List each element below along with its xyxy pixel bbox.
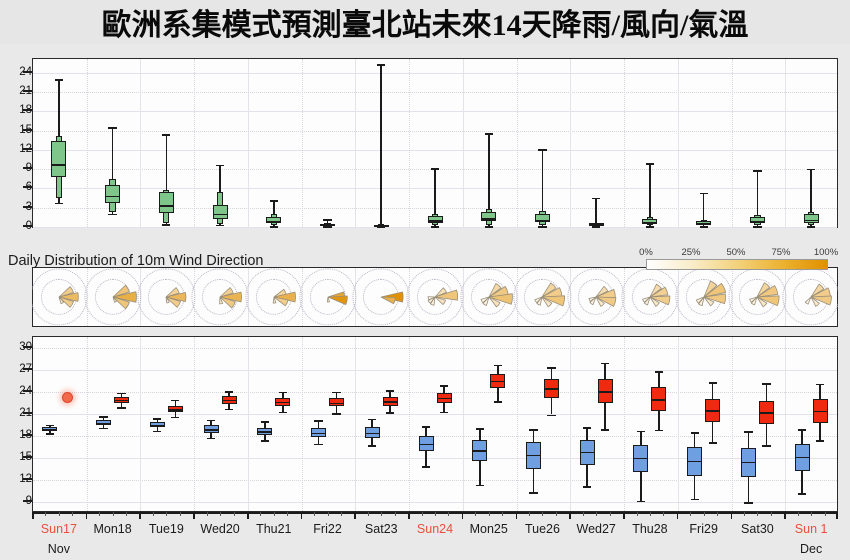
wind-legend-tick-label: 75% — [771, 247, 790, 258]
boxplot-median — [437, 398, 452, 399]
x-axis-minor-tick — [368, 512, 369, 516]
wind-rose-petals — [727, 267, 788, 327]
whisker-cap — [637, 501, 645, 503]
whisker-cap — [323, 226, 331, 228]
x-axis-minor-tick — [59, 512, 60, 516]
whisker-cap — [225, 391, 233, 393]
boxplot-median — [275, 402, 290, 403]
x-axis-minor-tick — [381, 512, 382, 516]
wind-rose — [408, 267, 462, 327]
whisker-cap — [422, 426, 430, 428]
boxplot-median — [526, 455, 541, 456]
whisker-cap — [655, 371, 663, 373]
whisker-cap — [691, 499, 699, 501]
boxplot-median — [419, 444, 434, 445]
x-axis-major-tick — [784, 512, 786, 519]
x-axis-day-label: Fri29 — [689, 522, 717, 536]
x-axis-major-tick — [32, 512, 34, 519]
wind-legend-gradient-bar — [646, 259, 828, 270]
x-axis-day-label: Thu28 — [632, 522, 667, 536]
x-axis-minor-tick — [704, 512, 705, 516]
x-axis-minor-tick — [260, 512, 261, 516]
boxplot-median — [105, 196, 120, 197]
whisker-cap — [601, 429, 609, 431]
wind-rose-petals — [566, 267, 627, 327]
x-axis-major-tick — [301, 512, 303, 519]
whisker-cap — [807, 169, 815, 171]
x-axis-minor-tick — [556, 512, 557, 516]
whisker-cap — [440, 385, 448, 387]
whisker-cap — [153, 418, 161, 420]
boxplot-iqr — [213, 205, 228, 219]
x-axis-minor-tick — [771, 512, 772, 516]
whisker-cap — [529, 429, 537, 431]
temperature-y-tick — [23, 500, 32, 502]
whisker-cap — [171, 417, 179, 419]
x-axis-minor-tick — [448, 512, 449, 516]
x-axis-major-tick — [623, 512, 625, 519]
x-axis-major-tick — [247, 512, 249, 519]
whisker-cap — [422, 466, 430, 468]
x-axis-minor-tick — [502, 512, 503, 516]
temperature-y-tick — [23, 412, 32, 414]
whisker-cap — [538, 226, 546, 228]
x-axis-minor-tick — [435, 512, 436, 516]
x-axis-minor-tick — [475, 512, 476, 516]
whisker-cap — [314, 420, 322, 422]
boxplot-median — [266, 221, 281, 222]
boxplot-median — [687, 461, 702, 462]
x-axis-day-label: Wed27 — [576, 522, 615, 536]
x-axis-minor-tick — [610, 512, 611, 516]
whisker-cap — [270, 226, 278, 228]
wind-legend-tick-label: 25% — [681, 247, 700, 258]
whisker-cap — [270, 200, 278, 202]
wind-rose-petals — [781, 267, 838, 327]
x-axis-minor-tick — [126, 512, 127, 516]
wind-rose-petals — [32, 267, 89, 327]
temperature-y-tick — [23, 346, 32, 348]
x-axis-day-label: Sun 1 — [795, 522, 828, 536]
temperature-y-tick — [23, 390, 32, 392]
x-axis-minor-tick — [234, 512, 235, 516]
boxplot-median — [204, 429, 219, 430]
boxplot-median — [472, 450, 487, 451]
whisker-cap — [798, 493, 806, 495]
x-axis-minor-tick — [744, 512, 745, 516]
whisker-cap — [583, 486, 591, 488]
x-axis-minor-tick — [422, 512, 423, 516]
whisker-cap — [377, 64, 385, 66]
x-axis-major-tick — [677, 512, 679, 519]
boxplot-median — [96, 423, 111, 424]
whisker-cap — [323, 219, 331, 221]
temperature-y-tick — [23, 478, 32, 480]
wind-rose — [193, 267, 247, 327]
whisker-cap — [529, 492, 537, 494]
boxplot-median — [741, 462, 756, 463]
whisker-cap — [207, 420, 215, 422]
whisker-cap — [279, 412, 287, 414]
x-axis-month-label: Nov — [48, 542, 70, 556]
whisker-cap — [171, 400, 179, 402]
boxplot-median — [642, 222, 657, 223]
wind-legend-tick-label: 50% — [726, 247, 745, 258]
x-axis-major-tick — [193, 512, 195, 519]
temperature-y-tick — [23, 368, 32, 370]
x-axis-major-tick — [569, 512, 571, 519]
x-axis-minor-tick — [341, 512, 342, 516]
x-axis-minor-tick — [220, 512, 221, 516]
wind-rose — [301, 267, 355, 327]
wind-rose — [354, 267, 408, 327]
wind-section-title: Daily Distribution of 10m Wind Direction — [8, 253, 263, 269]
x-axis-day-label: Fri22 — [313, 522, 341, 536]
boxplot-median — [813, 411, 828, 412]
whisker-cap — [753, 170, 761, 172]
wind-rose-petals — [512, 267, 573, 327]
boxplot-iqr — [51, 141, 66, 177]
wind-rose-petals — [619, 267, 680, 327]
wind-rose-petals — [673, 267, 734, 327]
whisker-cap — [646, 226, 654, 228]
whisker-cap — [55, 203, 63, 205]
whisker-cap — [798, 429, 806, 431]
whisker-cap — [762, 445, 770, 447]
wind-rose — [784, 267, 838, 327]
whisker-cap — [431, 168, 439, 170]
whisker-cap — [216, 165, 224, 167]
boxplot-median — [42, 429, 57, 430]
whisker-cap — [117, 407, 125, 409]
x-axis-minor-tick — [207, 512, 208, 516]
whisker-cap — [538, 149, 546, 151]
x-axis-month-label: Dec — [800, 542, 822, 556]
whisker-cap — [216, 225, 224, 227]
x-axis-minor-tick — [166, 512, 167, 516]
wind-rose — [569, 267, 623, 327]
whisker-cap — [108, 214, 116, 216]
boxplot-median — [580, 452, 595, 453]
whisker-cap — [485, 226, 493, 228]
x-axis-major-tick — [354, 512, 356, 519]
boxplot-median — [51, 164, 66, 165]
x-axis-day-label: Mon25 — [470, 522, 508, 536]
whisker-cap — [655, 430, 663, 432]
x-axis-day-label: Sat30 — [741, 522, 774, 536]
boxplot-median — [168, 409, 183, 410]
x-axis-major-tick — [836, 512, 838, 519]
whisker-cap — [753, 226, 761, 228]
whisker-cap — [162, 224, 170, 226]
x-axis-minor-tick — [99, 512, 100, 516]
whisker-cap — [314, 444, 322, 446]
whisker-cap — [547, 367, 555, 369]
whisker-cap — [153, 431, 161, 433]
whisker-cap — [637, 431, 645, 433]
x-axis-minor-tick — [690, 512, 691, 516]
x-axis-minor-tick — [811, 512, 812, 516]
x-axis-minor-tick — [637, 512, 638, 516]
x-axis-minor-tick — [650, 512, 651, 516]
whisker-cap — [601, 363, 609, 365]
x-axis-major-tick — [139, 512, 141, 519]
precipitation-y-tick — [23, 225, 32, 227]
x-axis-major-tick — [731, 512, 733, 519]
wind-legend-tick-label: 100% — [814, 247, 838, 258]
boxplot-median — [589, 225, 604, 226]
boxplot-median — [383, 401, 398, 402]
whisker-cap — [99, 416, 107, 418]
whisker-cap — [386, 390, 394, 392]
x-axis-minor-tick — [180, 512, 181, 516]
whisker-cap — [485, 133, 493, 135]
boxplot-median — [374, 225, 389, 226]
boxplot-median — [428, 220, 443, 221]
x-axis-major-tick — [516, 512, 518, 519]
boxplot-median — [535, 220, 550, 221]
wind-rose — [731, 267, 785, 327]
wind-legend: 0%25%50%75%100% — [632, 247, 837, 269]
wind-rose-petal — [805, 297, 811, 304]
boxplot-median — [114, 400, 129, 401]
x-axis-minor-tick — [583, 512, 584, 516]
boxplot-iqr — [159, 192, 174, 213]
whisker-cap — [709, 442, 717, 444]
boxplot-median — [633, 458, 648, 459]
whisker-cap — [476, 485, 484, 487]
wind-rose — [462, 267, 516, 327]
boxplot-median — [329, 403, 344, 404]
precipitation-y-tick — [23, 148, 32, 150]
boxplot-median — [481, 218, 496, 219]
x-axis-minor-tick — [798, 512, 799, 516]
whisker-cap — [261, 440, 269, 442]
boxplot-median — [696, 223, 711, 224]
x-axis-major-tick — [86, 512, 88, 519]
x-axis-minor-tick — [314, 512, 315, 516]
whisker-cap — [207, 438, 215, 440]
whisker-cap — [700, 193, 708, 195]
wind-rose-petals — [136, 267, 197, 327]
x-axis-day-label: Sun24 — [417, 522, 453, 536]
wind-rose-petals — [189, 267, 250, 327]
x-axis-major-tick — [462, 512, 464, 519]
x-axis-day-label: Sun17 — [41, 522, 77, 536]
precipitation-y-tick — [23, 71, 32, 73]
boxplot-iqr — [481, 212, 496, 222]
wind-rose-petal — [328, 296, 347, 305]
temperature-y-axis: 912151821242730 — [0, 336, 32, 512]
wind-rose — [516, 267, 570, 327]
x-axis-day-label: Thu21 — [256, 522, 291, 536]
x-axis: Sun17Mon18Tue19Wed20Thu21Fri22Sat23Sun24… — [32, 512, 838, 560]
precipitation-boxplots — [32, 58, 838, 228]
x-axis-day-label: Tue19 — [149, 522, 184, 536]
whisker-cap — [744, 431, 752, 433]
wind-rose-petals — [243, 267, 304, 327]
x-axis-day-label: Wed20 — [200, 522, 239, 536]
whisker-cap — [431, 226, 439, 228]
boxplot-median — [490, 381, 505, 382]
boxplot-median — [651, 399, 666, 400]
boxplot-median — [222, 400, 237, 401]
x-axis-minor-tick — [395, 512, 396, 516]
boxplot-median — [544, 388, 559, 389]
whisker-cap — [117, 393, 125, 395]
boxplot-iqr — [105, 185, 120, 203]
x-axis-day-label: Tue26 — [525, 522, 560, 536]
wind-rose — [247, 267, 301, 327]
whisker-cap — [494, 401, 502, 403]
whisker-cap — [744, 502, 752, 504]
whisker-cap — [691, 432, 699, 434]
whisker-cap — [332, 392, 340, 394]
temperature-y-tick — [23, 456, 32, 458]
wind-rose-petals — [404, 267, 465, 327]
boxplot-median — [213, 214, 228, 215]
x-axis-minor-tick — [328, 512, 329, 516]
precipitation-y-tick — [23, 206, 32, 208]
x-axis-minor-tick — [717, 512, 718, 516]
x-axis-minor-tick — [113, 512, 114, 516]
whisker-cap — [700, 226, 708, 228]
x-axis-minor-tick — [825, 512, 826, 516]
whisker-cap — [476, 428, 484, 430]
wind-rose — [32, 267, 86, 327]
whisker-cap — [332, 413, 340, 415]
boxplot-median — [257, 431, 272, 432]
whisker-cap — [279, 392, 287, 394]
x-axis-minor-tick — [542, 512, 543, 516]
whisker-cap — [762, 383, 770, 385]
boxplot-median — [150, 425, 165, 426]
precipitation-y-tick — [23, 167, 32, 169]
x-axis-minor-tick — [757, 512, 758, 516]
whisker-cap — [816, 440, 824, 442]
whisker-cap — [55, 79, 63, 81]
whisker-cap — [162, 134, 170, 136]
whisker-cap — [547, 415, 555, 417]
whisker-cap — [592, 198, 600, 200]
boxplot-median — [759, 412, 774, 413]
temperature-boxplots — [32, 336, 838, 512]
whisker-cap — [368, 419, 376, 421]
wind-rose-petals — [297, 267, 358, 327]
wind-rose — [139, 267, 193, 327]
precipitation-y-tick — [23, 109, 32, 111]
wind-rose-petals — [82, 267, 143, 327]
wind-roses — [32, 267, 838, 327]
x-axis-minor-tick — [274, 512, 275, 516]
whisker-cap — [46, 433, 54, 435]
whisker-cap — [583, 427, 591, 429]
boxplot-median — [365, 433, 380, 434]
boxplot-median — [804, 220, 819, 221]
temperature-y-tick — [23, 434, 32, 436]
whisker-cap — [494, 365, 502, 367]
boxplot-median — [598, 391, 613, 392]
observed-temperature-marker — [62, 392, 73, 403]
wind-rose-petals — [458, 267, 519, 327]
x-axis-minor-tick — [663, 512, 664, 516]
whisker-cap — [386, 412, 394, 414]
x-axis-day-label: Sat23 — [365, 522, 398, 536]
precipitation-y-tick — [23, 186, 32, 188]
boxplot-median — [159, 205, 174, 206]
wind-rose — [623, 267, 677, 327]
precipitation-y-tick — [23, 90, 32, 92]
whisker-cap — [807, 226, 815, 228]
x-axis-minor-tick — [529, 512, 530, 516]
x-axis-minor-tick — [596, 512, 597, 516]
whisker-cap — [368, 445, 376, 447]
wind-rose-petal — [381, 297, 395, 304]
whisker-cap — [440, 412, 448, 414]
whisker-cap — [646, 163, 654, 165]
whisker-cap — [816, 384, 824, 386]
wind-rose — [677, 267, 731, 327]
page-title: 歐洲系集模式預測臺北站未來14天降雨/風向/氣溫 — [102, 0, 749, 44]
wind-rose-petals — [351, 267, 412, 327]
whisker-cap — [261, 421, 269, 423]
page-title-bar: 歐洲系集模式預測臺北站未來14天降雨/風向/氣溫 — [0, 0, 850, 44]
x-axis-day-label: Mon18 — [93, 522, 131, 536]
precipitation-y-axis: 03691215182124 — [0, 58, 32, 228]
boxplot-median — [750, 221, 765, 222]
boxplot-median — [311, 433, 326, 434]
boxplot-median — [320, 225, 335, 226]
boxplot-median — [795, 457, 810, 458]
wind-rose — [86, 267, 140, 327]
wind-legend-tick-label: 0% — [639, 247, 653, 258]
boxplot-median — [705, 410, 720, 411]
whisker-cap — [99, 428, 107, 430]
x-axis-minor-tick — [45, 512, 46, 516]
whisker-cap — [709, 382, 717, 384]
x-axis-major-tick — [408, 512, 410, 519]
x-axis-minor-tick — [287, 512, 288, 516]
whisker-cap — [225, 409, 233, 411]
x-axis-minor-tick — [72, 512, 73, 516]
x-axis-minor-tick — [489, 512, 490, 516]
whisker-cap — [108, 127, 116, 129]
precipitation-y-tick — [23, 129, 32, 131]
whisker-cap — [592, 226, 600, 228]
x-axis-minor-tick — [153, 512, 154, 516]
